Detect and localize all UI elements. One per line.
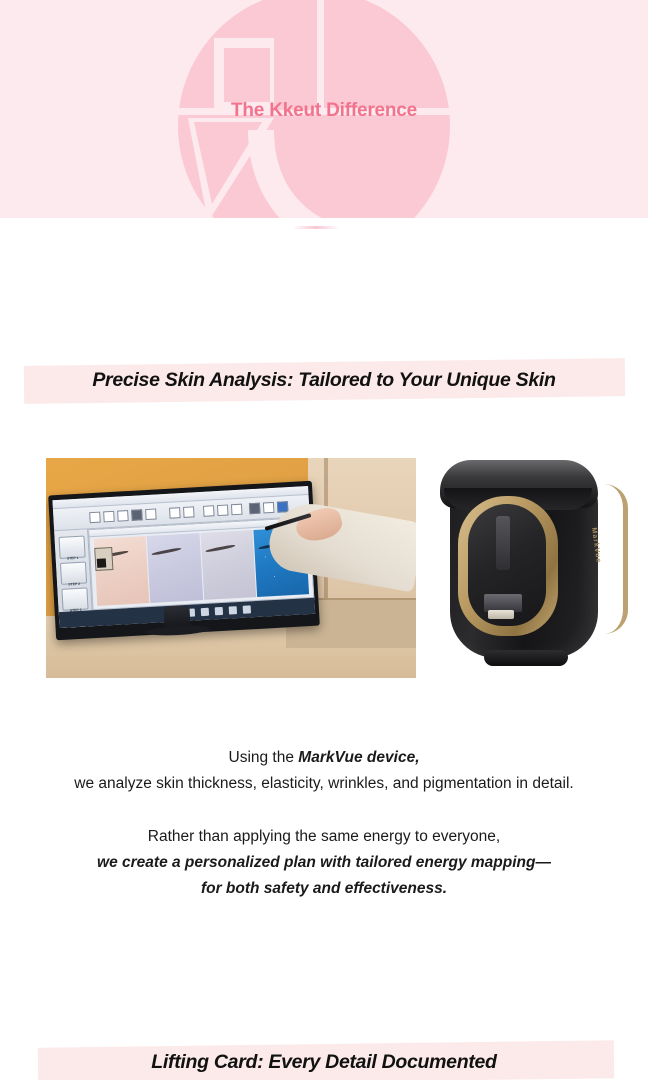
device-capture-window xyxy=(468,504,546,626)
face-scan-normal xyxy=(94,536,150,606)
hero-underline-divider xyxy=(292,226,340,229)
paragraph-2-line-1: Rather than applying the same energy to … xyxy=(0,824,648,850)
step-label-1: STEP 1 xyxy=(61,556,85,561)
device-base xyxy=(484,650,568,666)
page-root: The Kkeut Difference Precise Skin Analys… xyxy=(0,0,648,1080)
paragraph-2-line-2: we create a personalized plan with tailo… xyxy=(0,850,648,876)
paragraph-1-line-1: Using the MarkVue device, xyxy=(0,745,648,771)
section-heading-1: Precise Skin Analysis: Tailored to Your … xyxy=(0,369,648,392)
device-photo: MarkVue xyxy=(432,458,636,680)
paragraph-1-plain: Using the xyxy=(229,749,299,766)
face-scan-uv xyxy=(147,533,203,603)
paragraph-2-line-3: for both safety and effectiveness. xyxy=(0,876,648,902)
paragraph-1: Using the MarkVue device, we analyze ski… xyxy=(0,745,648,797)
section-heading-2: Lifting Card: Every Detail Documented xyxy=(0,1051,648,1074)
device-badge xyxy=(488,610,514,619)
hero-banner: The Kkeut Difference xyxy=(0,0,648,218)
image-row: STEP 1 STEP 2 STEP 3 STEP 4 STEP 5 xyxy=(0,458,648,680)
hero-title: The Kkeut Difference xyxy=(0,100,648,122)
monitor-photo: STEP 1 STEP 2 STEP 3 STEP 4 STEP 5 xyxy=(46,458,416,678)
step-label-2: STEP 2 xyxy=(62,582,86,587)
paragraph-1-line-2: we analyze skin thickness, elasticity, w… xyxy=(0,771,648,797)
paragraph-2: Rather than applying the same energy to … xyxy=(0,824,648,902)
face-scan-polarized xyxy=(200,530,256,600)
paragraph-1-emphasis: MarkVue device, xyxy=(298,749,419,766)
device-gold-arc xyxy=(604,484,628,634)
